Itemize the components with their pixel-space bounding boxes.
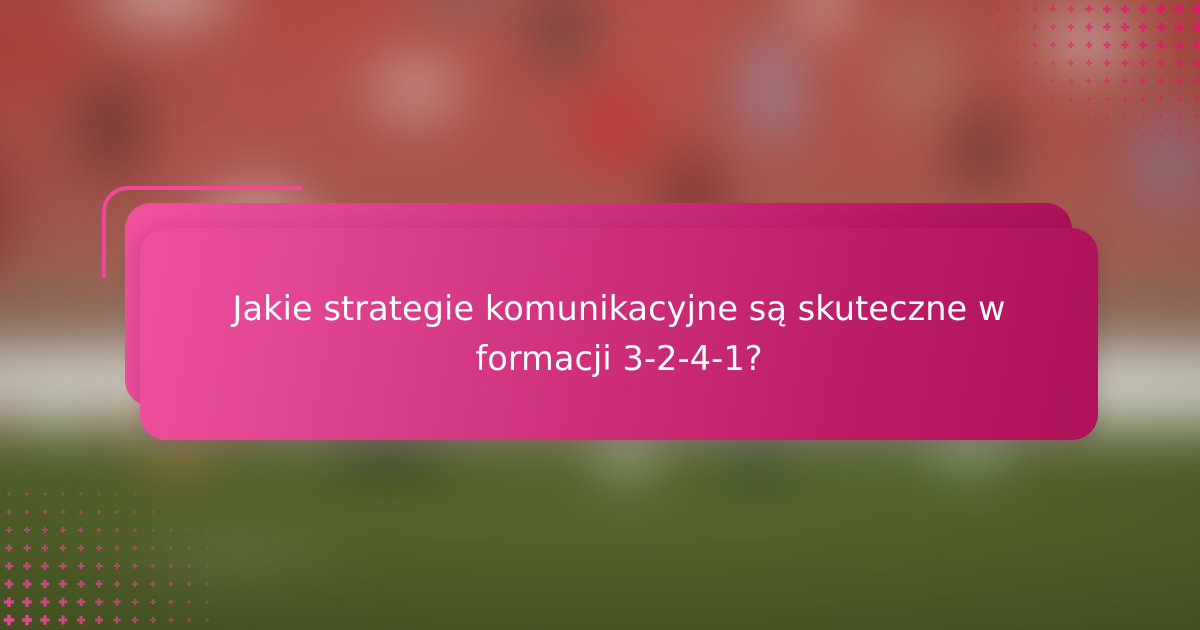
headline-container: Jakie strategie komunikacyjne są skutecz… xyxy=(180,236,1058,432)
page-title: Jakie strategie komunikacyjne są skutecz… xyxy=(224,284,1014,383)
